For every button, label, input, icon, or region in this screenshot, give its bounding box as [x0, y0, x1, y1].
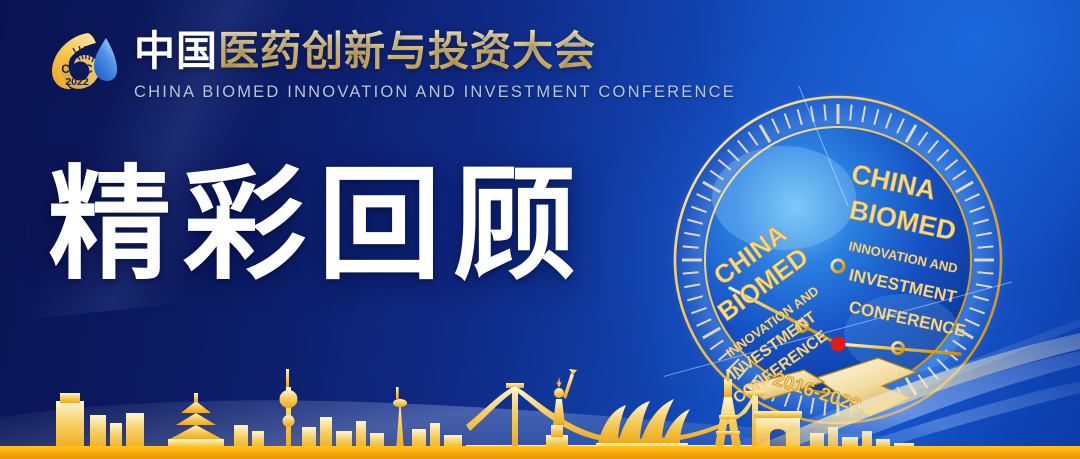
- cbiic-flame-droplet-logo: CBIIC 2022: [44, 26, 118, 96]
- banner-header: CBIIC 2022 中国医药创新与投资大会 CHINA BIOMED INNO…: [44, 26, 736, 102]
- conference-review-banner: CBIIC 2022 中国医药创新与投资大会 CHINA BIOMED INNO…: [0, 0, 1080, 459]
- arc-de-triomphe: [754, 411, 802, 451]
- city-skyline-band: [0, 339, 1080, 459]
- title-chinese-white-part: 中国: [134, 27, 218, 75]
- logo-acronym-text: CBIIC: [61, 64, 92, 76]
- conference-title-english: CHINA BIOMED INNOVATION AND INVESTMENT C…: [134, 83, 736, 102]
- conference-title-chinese: 中国医药创新与投资大会: [134, 28, 736, 74]
- bottom-gold-bar: [0, 446, 1080, 459]
- title-block: 中国医药创新与投资大会 CHINA BIOMED INNOVATION AND …: [134, 26, 736, 102]
- title-chinese-gold-part: 医药创新与投资大会: [218, 27, 596, 75]
- headline-text: 精彩回顾: [48, 161, 588, 291]
- logo-year-text: 2022: [65, 76, 89, 88]
